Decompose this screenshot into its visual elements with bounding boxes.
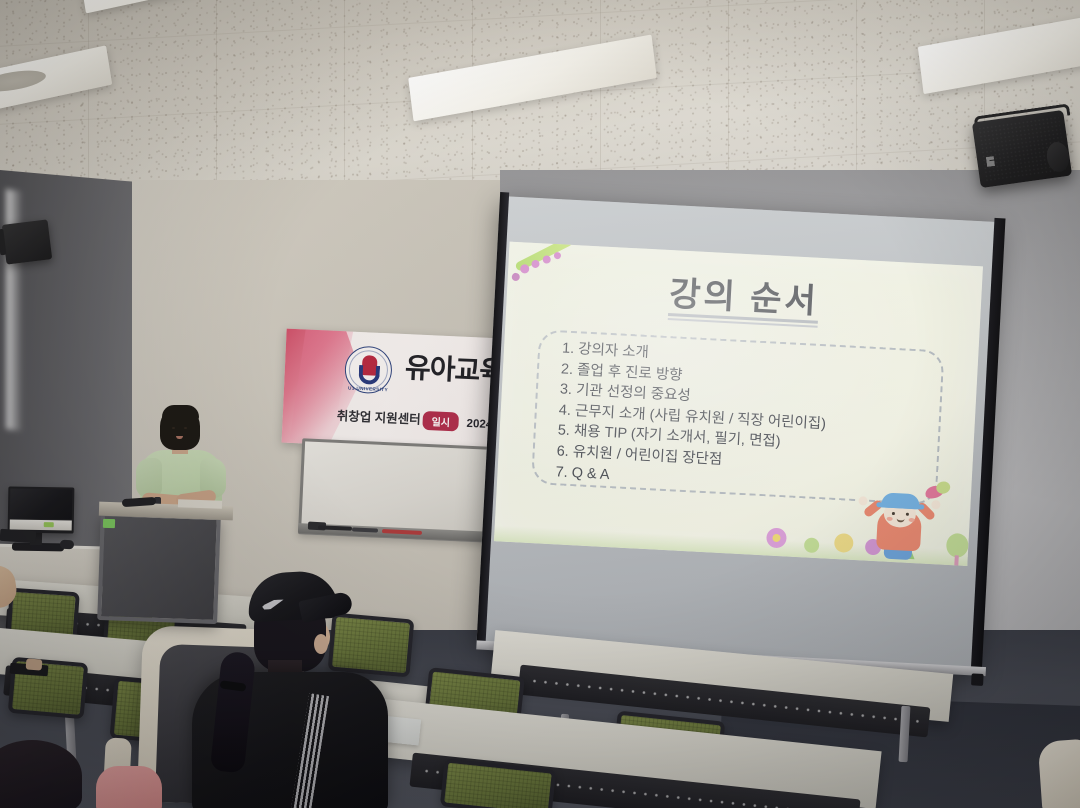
chair-mesh [332, 617, 410, 673]
slide-title: 강의 순서 [506, 258, 982, 332]
character-hat-icon [881, 492, 920, 509]
presenter-eye [172, 427, 175, 429]
phone-case [26, 658, 43, 670]
mouse [60, 540, 74, 550]
presenter-eye [184, 427, 187, 429]
projection-screen: 강의 순서 1. 강의자 소개 2. 졸업 후 진로 방향 3. 기관 선정의 … [477, 196, 1000, 670]
chair [1038, 738, 1080, 808]
presenter-fringe [162, 405, 199, 421]
wall-speaker-icon [2, 219, 53, 264]
banner-date-badge: 일시 [422, 411, 459, 432]
monitor-sticker [44, 522, 54, 527]
keyboard [0, 529, 36, 543]
chair [328, 613, 415, 678]
banner-center-label: 취창업 지원센터 [336, 405, 421, 428]
lectern [97, 512, 221, 624]
character-cheek [909, 518, 915, 522]
character-hand [931, 500, 940, 509]
screen-foot [971, 673, 984, 686]
slide-agenda-list: 1. 강의자 소개 2. 졸업 후 진로 방향 3. 기관 선정의 중요성 4.… [555, 338, 962, 503]
lectern-documents [178, 499, 222, 509]
speaker-logo [986, 156, 995, 167]
chair-mesh [444, 763, 552, 808]
slide-deco-dot [554, 252, 561, 259]
monitor-screen [10, 488, 73, 519]
monitor-bezel [10, 519, 72, 530]
character-cheek [887, 517, 893, 521]
desktop-monitor [8, 486, 75, 533]
presentation-slide: 강의 순서 1. 강의자 소개 2. 졸업 후 진로 방향 3. 기관 선정의 … [494, 242, 983, 566]
classroom-photo: U1 UNIVERSITY 유아교육고 취창업 지원센터 일시 2024년 6월… [0, 0, 1080, 808]
audience-member [96, 766, 162, 808]
character-hand [858, 496, 867, 505]
student-ear [314, 634, 328, 654]
asset-tag-sticker [103, 519, 115, 528]
